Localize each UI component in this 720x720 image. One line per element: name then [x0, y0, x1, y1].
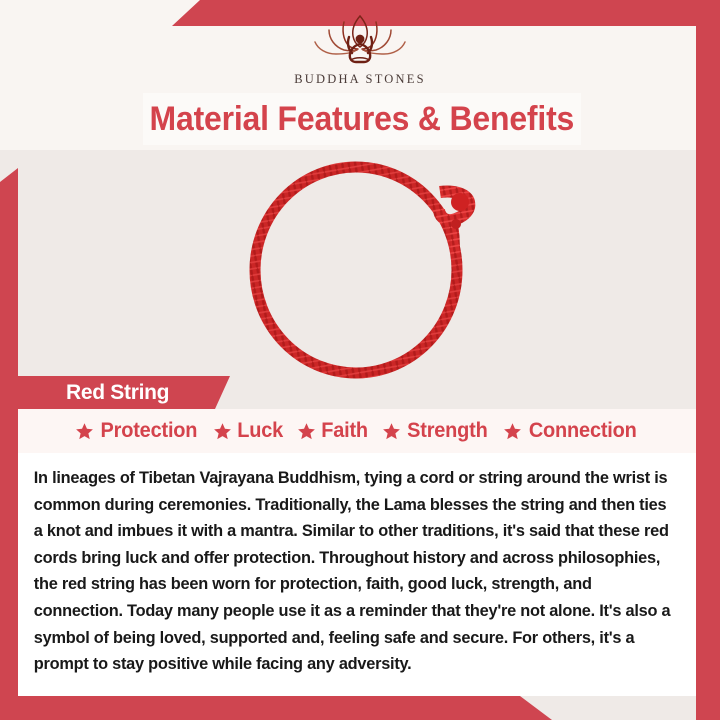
title-banner: Material Features & Benefits	[143, 93, 581, 145]
lotus-meditation-icon	[306, 12, 414, 70]
feature-item: Protection	[75, 419, 200, 443]
brand-logo: BUDDHA STONES	[0, 12, 720, 87]
product-image	[0, 150, 720, 390]
star-icon	[75, 422, 94, 441]
product-name-banner: Red String	[18, 376, 230, 409]
feature-item: Strength	[382, 419, 490, 443]
feature-item: Connection	[503, 419, 640, 443]
product-name-label: Red String	[66, 381, 169, 405]
feature-label: Faith	[321, 419, 368, 443]
page-title: Material Features & Benefits	[150, 100, 575, 139]
star-icon	[297, 422, 316, 441]
brand-name: BUDDHA STONES	[0, 72, 720, 87]
feature-label: Connection	[529, 419, 637, 443]
star-icon	[382, 422, 401, 441]
feature-list: Protection Luck Faith Strength	[18, 409, 696, 453]
red-braided-cord-bracelet-icon	[230, 150, 490, 380]
feature-label: Strength	[407, 419, 487, 443]
poster-canvas: BUDDHA STONES Material Features & Benefi…	[0, 0, 720, 720]
feature-label: Luck	[237, 419, 283, 443]
star-icon	[503, 422, 522, 441]
content-panel: Protection Luck Faith Strength	[18, 409, 696, 696]
description-text: In lineages of Tibetan Vajrayana Buddhis…	[18, 453, 686, 678]
feature-item: Luck	[213, 419, 284, 443]
feature-label: Protection	[100, 419, 197, 443]
feature-item: Faith	[297, 419, 369, 443]
star-icon	[213, 422, 232, 441]
